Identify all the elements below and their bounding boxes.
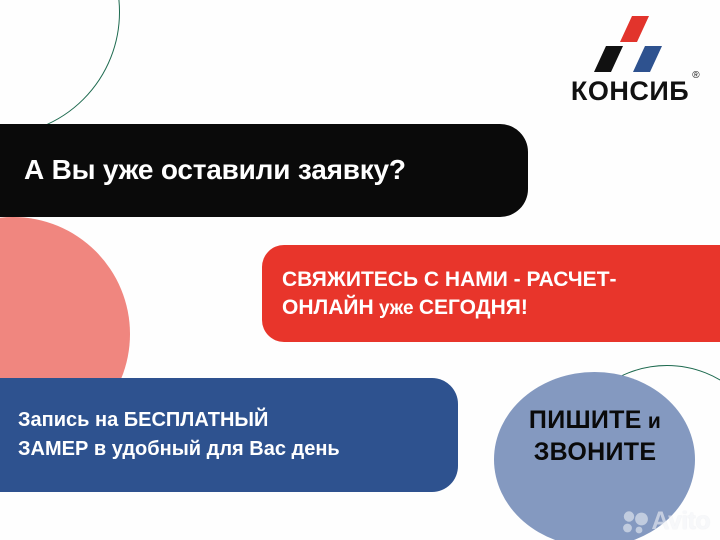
banner-free-measurement: Запись на БЕСПЛАТНЫЙ ЗАМЕР в удобный для… <box>0 378 458 492</box>
cta-write-word: ПИШИТЕ <box>529 406 642 434</box>
banner-contact: СВЯЖИТЕСЬ С НАМИ - РАСЧЕТ- ОНЛАЙН уже СЕ… <box>262 245 720 342</box>
banner-question-text: А Вы уже оставили заявку? <box>24 155 406 186</box>
banner-contact-already-word: уже <box>374 298 419 319</box>
promo-poster: КОНСИБ® А Вы уже оставили заявку? СВЯЖИТ… <box>0 0 720 540</box>
brand-name-text: КОНСИБ <box>571 76 689 106</box>
cta-line-1: ПИШИТЕ и <box>496 404 694 436</box>
banner-measure-line-2: ЗАМЕР в удобный для Вас день <box>18 435 340 464</box>
banner-contact-online-word: ОНЛАЙН <box>282 296 374 319</box>
banner-contact-line-1: СВЯЖИТЕСЬ С НАМИ - РАСЧЕТ- <box>282 266 617 294</box>
cta-line-2: ЗВОНИТЕ <box>496 436 694 468</box>
cta-and-word: и <box>642 410 661 433</box>
banner-contact-today-word: СЕГОДНЯ! <box>419 296 528 319</box>
brand-wordmark: КОНСИБ® <box>571 78 689 105</box>
banner-contact-line-2: ОНЛАЙН уже СЕГОДНЯ! <box>282 294 528 322</box>
decorative-circle-outline-top-left <box>0 0 120 136</box>
konsib-logo-mark-icon <box>592 16 668 74</box>
banner-measure-line-1: Запись на БЕСПЛАТНЫЙ <box>18 406 268 435</box>
call-to-action-text: ПИШИТЕ и ЗВОНИТЕ <box>496 404 694 468</box>
registered-trademark-symbol: ® <box>692 71 700 81</box>
banner-question: А Вы уже оставили заявку? <box>0 124 528 217</box>
brand-logo: КОНСИБ® <box>556 16 704 105</box>
